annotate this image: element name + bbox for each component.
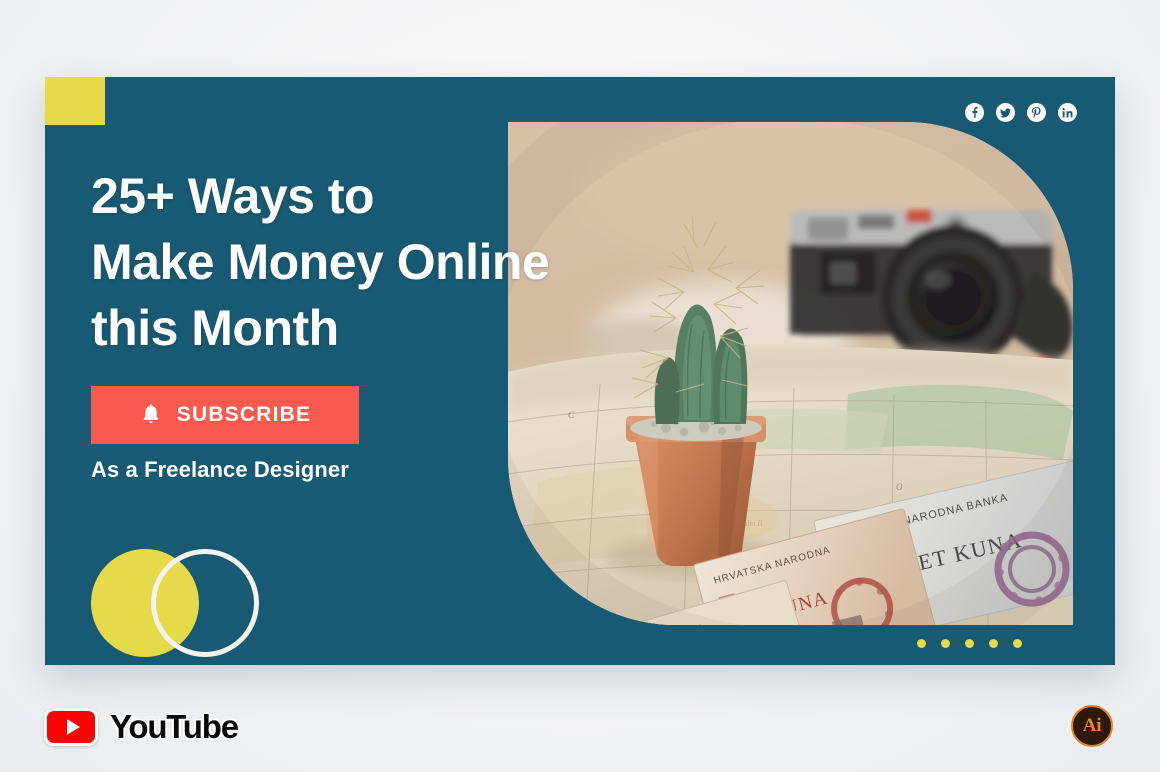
brand-logo-mark: [91, 549, 281, 657]
headline-line-1: 25+ Ways to: [91, 163, 731, 229]
adobe-illustrator-badge: Ai: [1071, 705, 1113, 747]
carousel-dots[interactable]: [917, 639, 1022, 648]
tagline: As a Freelance Designer: [91, 457, 349, 483]
carousel-dot-4[interactable]: [989, 639, 998, 648]
headline-line-3: this Month: [91, 295, 731, 361]
carousel-dot-5[interactable]: [1013, 639, 1022, 648]
headline-line-2: Make Money Online: [91, 229, 731, 295]
social-links[interactable]: [965, 103, 1077, 122]
linkedin-icon[interactable]: [1058, 103, 1077, 122]
bell-icon: [139, 402, 163, 428]
subscribe-button[interactable]: SUBSCRIBE: [91, 386, 359, 444]
subscribe-label: SUBSCRIBE: [177, 403, 311, 427]
youtube-brand: YouTube: [44, 708, 238, 746]
page-title: 25+ Ways to Make Money Online this Month: [91, 163, 731, 361]
youtube-play-icon: [44, 708, 98, 746]
youtube-thumbnail-card: C A N B E S ····· ···· Kolombo B. O ·· ·…: [45, 77, 1115, 665]
ai-badge-label: Ai: [1083, 715, 1101, 737]
twitter-icon[interactable]: [996, 103, 1015, 122]
white-outline-circle: [151, 549, 259, 657]
pinterest-icon[interactable]: [1027, 103, 1046, 122]
carousel-dot-2[interactable]: [941, 639, 950, 648]
youtube-wordmark: YouTube: [110, 708, 238, 746]
facebook-icon[interactable]: [965, 103, 984, 122]
yellow-accent-square: [45, 77, 105, 125]
carousel-dot-3[interactable]: [965, 639, 974, 648]
carousel-dot-1[interactable]: [917, 639, 926, 648]
